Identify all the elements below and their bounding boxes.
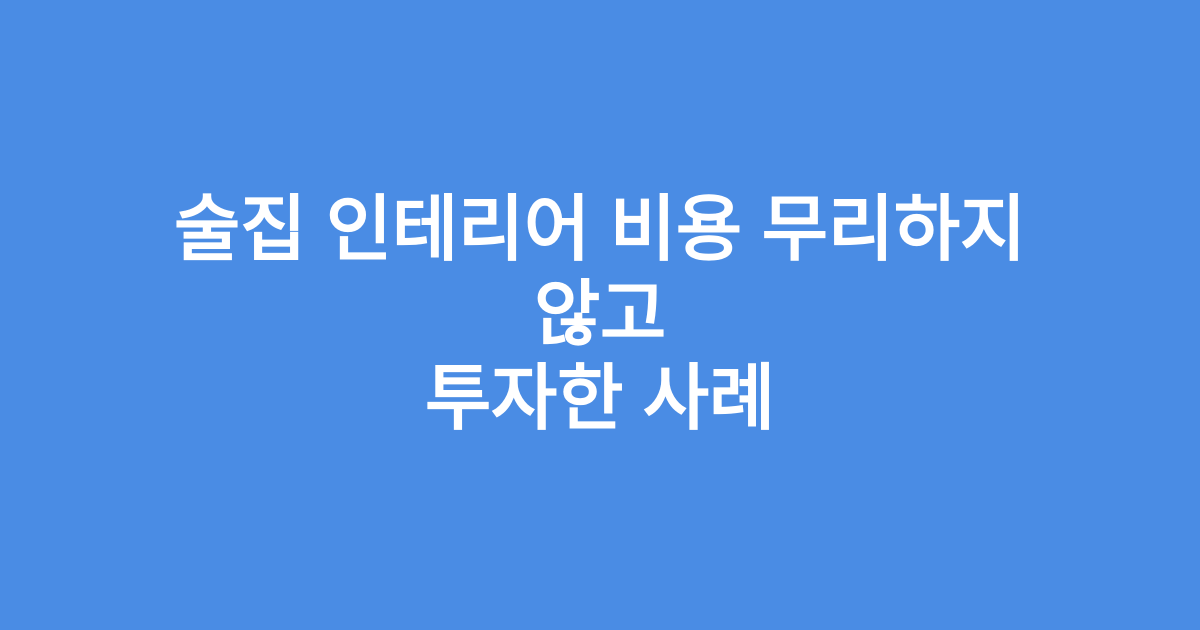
- page-title: 술집 인테리어 비용 무리하지 않고 투자한 사례: [124, 188, 1076, 443]
- thumbnail-card: 술집 인테리어 비용 무리하지 않고 투자한 사례: [0, 0, 1200, 630]
- title-block: 술집 인테리어 비용 무리하지 않고 투자한 사례: [100, 188, 1100, 443]
